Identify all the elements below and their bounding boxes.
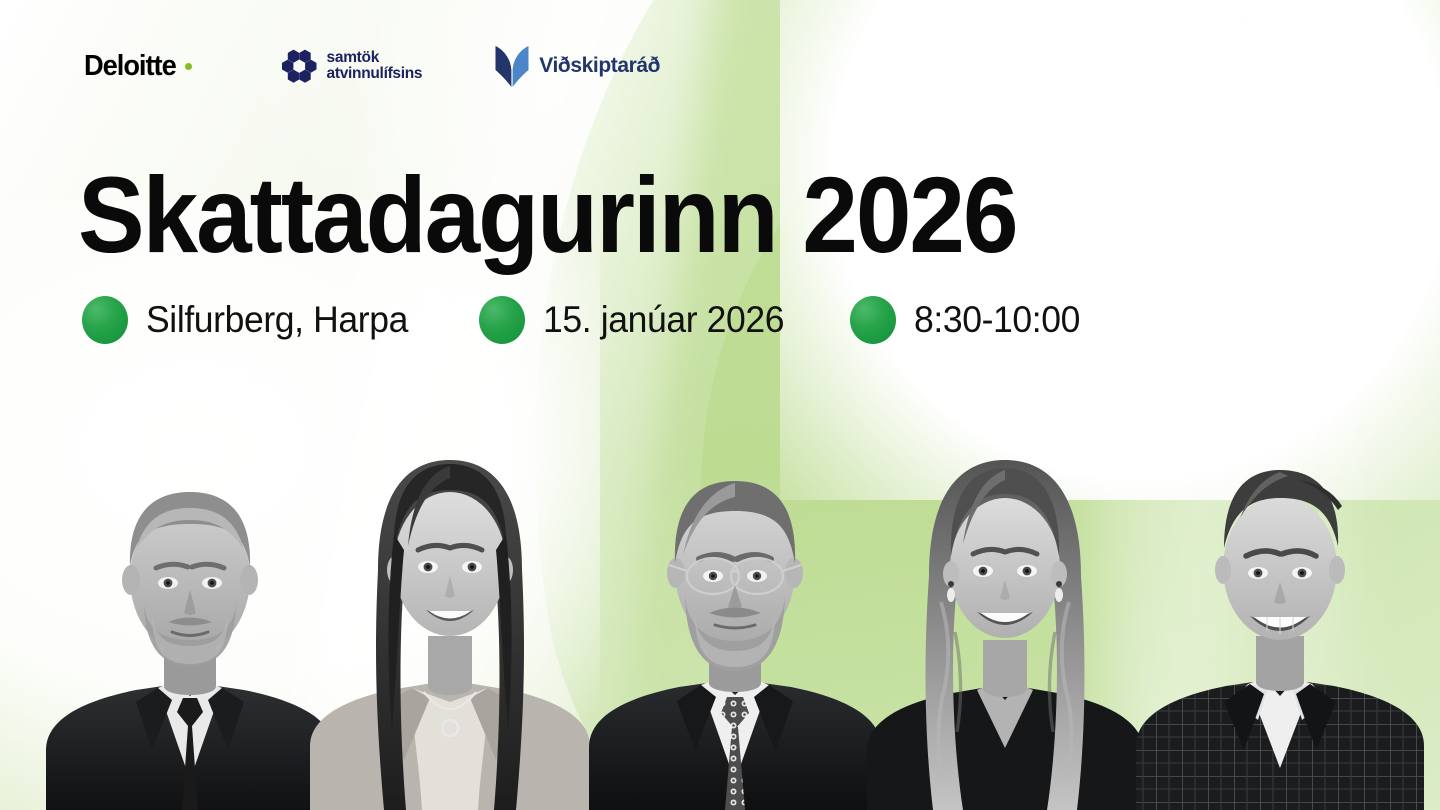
green-dot-icon	[479, 296, 525, 344]
speaker-portrait-5	[1130, 438, 1430, 810]
hexagon-cluster-icon	[282, 49, 318, 83]
speaker-portrait-4	[855, 432, 1155, 810]
samtok-line-1: samtök	[327, 50, 423, 66]
event-details-row: Silfurberg, Harpa 15. janúar 2026 8:30-1…	[82, 296, 1087, 344]
green-dot-icon	[82, 296, 128, 344]
logo-deloitte: Deloitte	[84, 52, 192, 81]
speaker-photo-4	[855, 432, 1155, 810]
logo-samtok-atvinnulifsins: samtök atvinnulífsins	[282, 49, 423, 83]
venue-label: Silfurberg, Harpa	[146, 299, 408, 341]
page-title: Skattadagurinn 2026	[78, 160, 1016, 270]
speaker-photo-2	[300, 430, 600, 810]
speaker-photo-5	[1130, 438, 1430, 810]
leaf-v-icon	[494, 44, 530, 88]
event-detail-time: 8:30-10:00	[850, 296, 1087, 344]
speaker-photo-1	[40, 450, 340, 810]
sponsor-logo-row: Deloitte samtök atvinnulífsins	[84, 44, 660, 88]
deloitte-wordmark: Deloitte	[84, 52, 176, 81]
event-detail-date: 15. janúar 2026	[479, 296, 794, 344]
samtok-line-2: atvinnulífsins	[327, 66, 423, 82]
speaker-photo-3	[585, 445, 885, 810]
event-poster: Deloitte samtök atvinnulífsins	[0, 0, 1440, 810]
green-dot-icon	[850, 296, 896, 344]
vidskiptarad-wordmark: Viðskiptaráð	[539, 54, 660, 78]
speaker-portrait-3	[585, 445, 885, 810]
speaker-portrait-1	[40, 450, 340, 810]
samtok-wordmark: samtök atvinnulífsins	[327, 50, 423, 82]
date-label: 15. janúar 2026	[543, 299, 784, 341]
event-detail-venue: Silfurberg, Harpa	[82, 296, 419, 344]
speaker-portrait-row	[0, 410, 1440, 810]
time-label: 8:30-10:00	[914, 299, 1080, 341]
speaker-portrait-2	[300, 430, 600, 810]
deloitte-dot-icon	[185, 63, 192, 70]
logo-vidskiptarad: Viðskiptaráð	[494, 44, 660, 88]
